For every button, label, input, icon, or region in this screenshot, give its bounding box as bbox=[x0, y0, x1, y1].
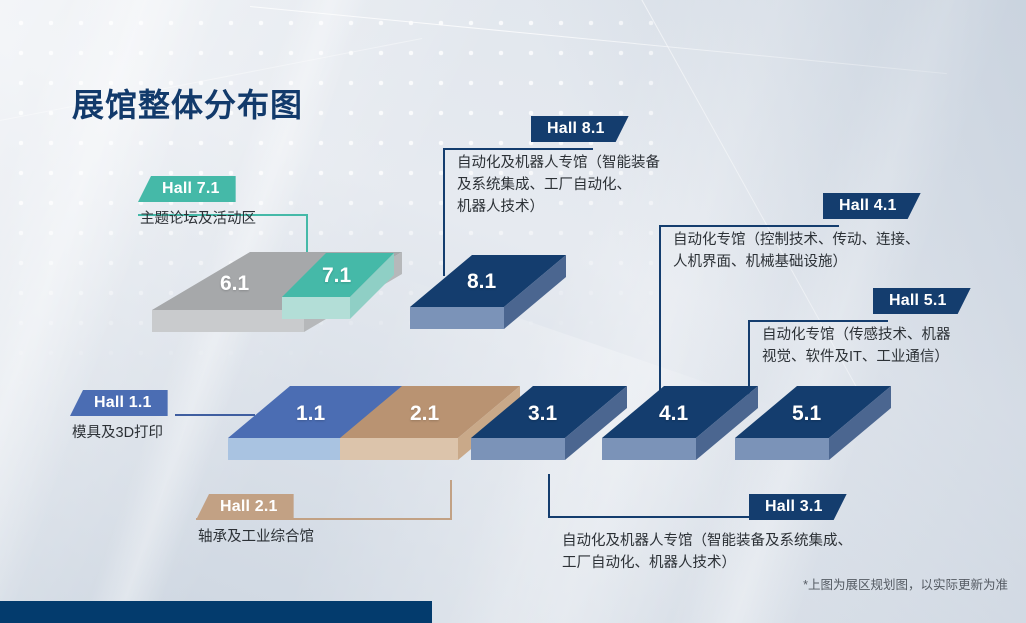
callout-hall-2-1[interactable]: Hall 2.1 轴承及工业综合馆 bbox=[196, 494, 314, 548]
callout-hall-2-1-description: 轴承及工业综合馆 bbox=[198, 526, 314, 548]
hall-block-7-1[interactable]: 7.1 bbox=[282, 253, 400, 349]
callout-hall-7-1-badge[interactable]: Hall 7.1 bbox=[138, 176, 236, 202]
hall-block-8-1-shape bbox=[410, 255, 576, 367]
hall-block-8-1[interactable]: 8.1 bbox=[410, 255, 576, 367]
hall-block-5-1[interactable]: 5.1 bbox=[735, 386, 901, 498]
callout-hall-1-1-badge[interactable]: Hall 1.1 bbox=[70, 390, 168, 416]
callout-hall-5-1-description: 自动化专馆（传感技术、机器 视觉、软件及IT、工业通信） bbox=[762, 324, 971, 368]
callout-hall-4-1[interactable]: Hall 4.1 自动化专馆（控制技术、传动、连接、 人机界面、机械基础设施） bbox=[659, 193, 921, 273]
callout-hall-8-1[interactable]: Hall 8.1 自动化及机器人专馆（智能装备 及系统集成、工厂自动化、 机器人… bbox=[443, 116, 660, 218]
background-hairline bbox=[250, 6, 947, 74]
callout-hall-7-1[interactable]: Hall 7.1 主题论坛及活动区 bbox=[138, 176, 256, 230]
callout-hall-1-1[interactable]: Hall 1.1 模具及3D打印 bbox=[70, 390, 168, 444]
page-title: 展馆整体分布图 bbox=[72, 80, 303, 126]
callout-hall-3-1-description: 自动化及机器人专馆（智能装备及系统集成、 工厂自动化、机器人技术） bbox=[562, 530, 852, 574]
callout-hall-3-1[interactable]: Hall 3.1 自动化及机器人专馆（智能装备及系统集成、 工厂自动化、机器人技… bbox=[560, 494, 852, 574]
callout-hall-2-1-badge[interactable]: Hall 2.1 bbox=[196, 494, 294, 520]
footer-note: *上图为展区规划图，以实际更新为准 bbox=[803, 574, 1008, 593]
exhibition-floorplan-diagram: 展馆整体分布图 6.1 bbox=[0, 0, 1026, 623]
callout-hall-8-1-description: 自动化及机器人专馆（智能装备 及系统集成、工厂自动化、 机器人技术） bbox=[457, 152, 660, 218]
hall-block-5-1-shape bbox=[735, 386, 901, 498]
callout-hall-8-1-badge[interactable]: Hall 8.1 bbox=[531, 116, 629, 142]
callout-hall-1-1-description: 模具及3D打印 bbox=[72, 422, 168, 444]
callout-hall-3-1-badge[interactable]: Hall 3.1 bbox=[749, 494, 847, 520]
callout-hall-5-1-badge[interactable]: Hall 5.1 bbox=[873, 288, 971, 314]
callout-hall-7-1-description: 主题论坛及活动区 bbox=[140, 208, 256, 230]
callout-hall-4-1-badge[interactable]: Hall 4.1 bbox=[823, 193, 921, 219]
hall-block-7-1-shape bbox=[282, 253, 400, 349]
callout-hall-4-1-description: 自动化专馆（控制技术、传动、连接、 人机界面、机械基础设施） bbox=[673, 229, 921, 273]
callout-hall-5-1[interactable]: Hall 5.1 自动化专馆（传感技术、机器 视觉、软件及IT、工业通信） bbox=[748, 288, 971, 368]
bottom-accent-bar bbox=[0, 601, 432, 623]
